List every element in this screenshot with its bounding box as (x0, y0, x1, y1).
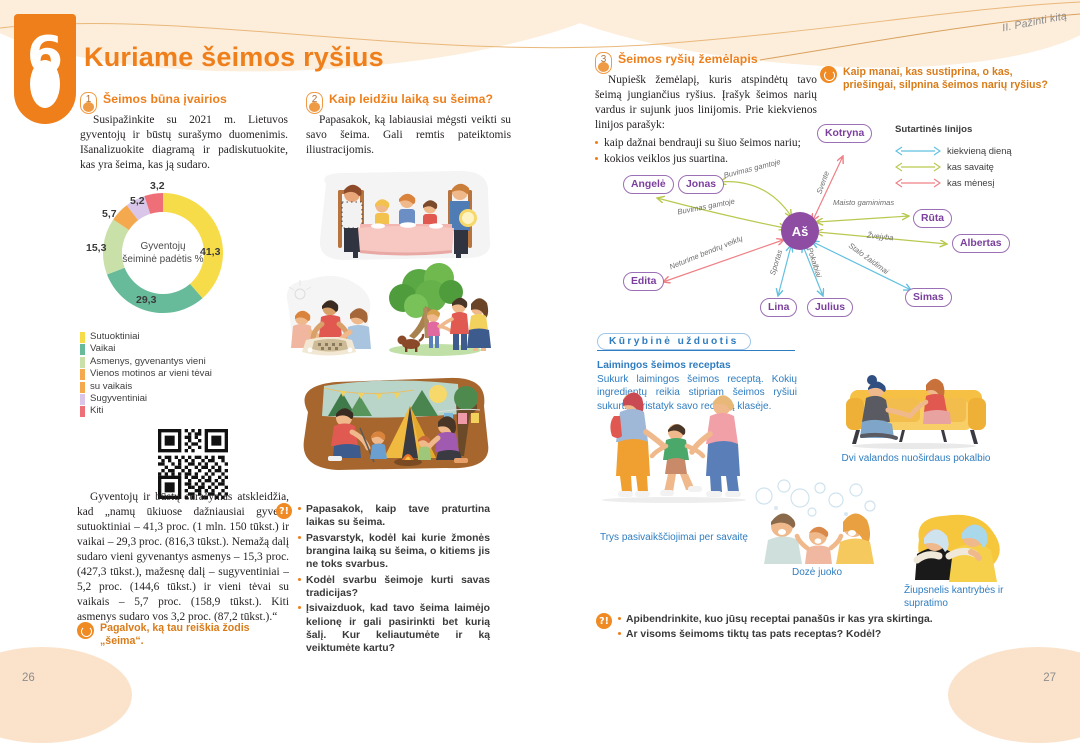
legend-label: Kiti (90, 405, 103, 417)
map-node-lina: Lina (760, 298, 797, 317)
legend-label: Sutuoktiniai (90, 331, 140, 343)
donut-value-5: 3,2 (150, 180, 165, 192)
qr-code[interactable] (158, 429, 228, 499)
legend-item: Sutuoktiniai (80, 331, 270, 343)
legend-item: Asmenys, gyvenantys vieni (80, 356, 270, 368)
map-node-jonas: Jonas (678, 175, 724, 194)
legend-label: Vaikai (90, 343, 115, 355)
legend-label: Vienos motinos ar vieni tėvai (90, 368, 212, 380)
legend-item-cont: su vaikais (80, 381, 270, 393)
legend-label: Asmenys, gyvenantys vieni (90, 356, 206, 368)
donut-value-2: 15,3 (86, 242, 106, 254)
list-item: Apibendrinkite, kuo jūsų receptai panašū… (618, 613, 996, 626)
double-arrow-red-icon (895, 178, 941, 188)
legend-swatch (80, 406, 85, 417)
question-exclaim-icon: ?! (276, 503, 292, 519)
caption-laughter: Dozė juoko (762, 566, 872, 579)
refresh-circle-icon (820, 66, 837, 83)
right-think-prompt: Kaip manai, kas sustiprina, o kas, prieš… (820, 66, 1060, 93)
map-legend-item-daily: kiekvieną dieną (895, 145, 1012, 156)
legend-item: Sugyventiniai (80, 393, 270, 405)
middle-question-block: ?! Papasakok, kaip tave praturtina laika… (276, 503, 490, 657)
census-paragraph: Gyventojų ir būstų surašymas atskleidžia… (77, 490, 289, 624)
textbook-spread: II. Pažinti kitą 6 Kuriame šeimos ryšius… (0, 0, 1080, 701)
caption-couch: Dvi valandos nuoširdaus pokalbio (830, 452, 1002, 465)
chapter-badge: 6 (14, 14, 76, 124)
illustration-laughing-family (752, 478, 887, 566)
illustration-family-tree-walk (383, 262, 501, 360)
refresh-circle-icon (77, 622, 94, 639)
legend-item: Vaikai (80, 343, 270, 355)
drop-icon (83, 102, 94, 112)
section-1-body-text: Susipažinkite su 2021 m. Lietuvos gyvent… (80, 113, 288, 173)
page-number-left: 26 (22, 672, 35, 684)
illustration-family-walk (598, 386, 753, 508)
legend-swatch (80, 369, 85, 380)
map-node-angele: Angelė (623, 175, 674, 194)
section-1: 1 Šeimos būna įvairios Susipažinkite su … (80, 92, 288, 173)
bottom-question-block: ?! Apibendrinkite, kuo jūsų receptai pan… (596, 613, 996, 644)
map-node-simas: Simas (905, 288, 952, 307)
section-2-head: 2 Kaip leidžiu laiką su šeima? (306, 92, 511, 114)
legend-swatch (80, 332, 85, 343)
map-edge-label-3: Maisto gaminimas (833, 198, 894, 207)
legend-swatch (80, 394, 85, 405)
question-exclaim-icon: ?! (596, 613, 612, 629)
legend-swatch (80, 344, 85, 355)
map-node-center: Aš (781, 212, 819, 250)
illustration-family-dinner (308, 168, 498, 264)
section-2-body-text: Papasakok, ką labiausiai mėgsti veikti s… (306, 113, 511, 158)
map-legend-label: kas savaitę (947, 161, 994, 172)
section-1-body: Susipažinkite su 2021 m. Lietuvos gyvent… (80, 113, 288, 173)
page-title: Kuriame šeimos ryšius (84, 42, 384, 73)
census-paragraph-text: Gyventojų ir būstų surašymas atskleidžia… (77, 490, 289, 624)
donut-value-1: 29,3 (136, 294, 156, 306)
legend-item: Kiti (80, 405, 270, 417)
middle-question-list: Papasakok, kaip tave praturtina laikas s… (298, 503, 490, 657)
illustration-hug (905, 510, 1015, 582)
legend-swatch (80, 382, 85, 393)
page-number-right: 27 (1043, 672, 1056, 684)
map-legend-label: kiekvieną dieną (947, 145, 1012, 156)
section-1-title: Šeimos būna įvairios (103, 92, 227, 106)
right-think-text: Kaip manai, kas sustiprina, o kas, prieš… (843, 66, 1055, 93)
footer-blob-right (948, 647, 1080, 743)
list-item: Ar visoms šeimoms tiktų tas pats recepta… (618, 628, 996, 641)
map-node-julius: Julius (807, 298, 853, 317)
illustration-camping (288, 372, 500, 482)
map-legend-item-monthly: kas mėnesį (895, 177, 994, 188)
legend-label: su vaikais (90, 381, 132, 393)
section-3-number: 3 (595, 52, 612, 74)
section-3-title: Šeimos ryšių žemėlapis (618, 52, 758, 66)
donut-value-4: 5,2 (130, 195, 145, 207)
legend-item: Vienos motinos ar vieni tėvai (80, 368, 270, 380)
section-2-title: Kaip leidžiu laiką su šeima? (329, 92, 493, 106)
drop-icon (309, 102, 320, 112)
map-legend-title: Sutartinės linijos (895, 124, 972, 135)
section-2-number: 2 (306, 92, 323, 114)
illustration-couch-talk (832, 368, 997, 450)
drop-icon (598, 62, 609, 72)
left-think-prompt: Pagalvok, ką tau reiškia žodis „šeima“. (77, 622, 292, 649)
section-3-head: 3 Šeimos ryšių žemėlapis (595, 52, 817, 74)
section-2: 2 Kaip leidžiu laiką su šeima? Papasakok… (306, 92, 511, 158)
chart-legend: Sutuoktiniai Vaikai Asmenys, gyvenantys … (80, 331, 270, 418)
legend-label: Sugyventiniai (90, 393, 147, 405)
caption-patience: Žiupsnelis kantrybės ir supratimo (904, 584, 1022, 610)
left-think-text: Pagalvok, ką tau reiškia žodis „šeima“. (100, 622, 292, 649)
illustration-board-game (280, 270, 380, 356)
creative-task-subtitle: Laimingos šeimos receptas (597, 360, 731, 371)
family-status-donut-chart: Gyventojų šeiminė padėtis % 41,3 29,3 15… (88, 186, 238, 326)
section-1-number: 1 (80, 92, 97, 114)
list-item: Papasakok, kaip tave praturtina laikas s… (298, 503, 490, 530)
map-node-ruta: Rūta (913, 209, 952, 228)
creative-task-tab: Kūrybinė užduotis (597, 333, 751, 350)
double-arrow-green-icon (895, 162, 941, 172)
map-legend-label: kas mėnesį (947, 177, 994, 188)
creative-task-rule (597, 350, 795, 351)
list-item: Įsivaizduok, kad tavo šeima laimėjo keli… (298, 602, 490, 655)
map-node-edita: Edita (623, 272, 664, 291)
list-item: Pasvarstyk, kodėl kai kurie žmonės brang… (298, 532, 490, 572)
double-arrow-blue-icon (895, 146, 941, 156)
footer-blob-left (0, 647, 132, 743)
legend-swatch (80, 357, 85, 368)
bottom-question-list: Apibendrinkite, kuo jūsų receptai panašū… (618, 613, 996, 644)
map-legend-item-weekly: kas savaitę (895, 161, 994, 172)
chapter-number: 6 (14, 30, 76, 82)
donut-center-label: Gyventojų šeiminė padėtis % (122, 212, 204, 294)
map-node-kotryna: Kotryna (817, 124, 872, 143)
section-1-head: 1 Šeimos būna įvairios (80, 92, 288, 114)
family-relationship-map: Aš Kotryna Angelė Jonas Rūta Albertas Ed… (595, 120, 1065, 325)
list-item: Kodėl svarbu šeimoje kurti savas tradici… (298, 574, 490, 601)
donut-value-0: 41,3 (200, 246, 220, 258)
caption-walks: Trys pasivaikščiojimai per savaitę (594, 531, 754, 544)
map-node-albertas: Albertas (952, 234, 1010, 253)
donut-value-3: 5,7 (102, 208, 117, 220)
section-2-body: Papasakok, ką labiausiai mėgsti veikti s… (306, 113, 511, 158)
